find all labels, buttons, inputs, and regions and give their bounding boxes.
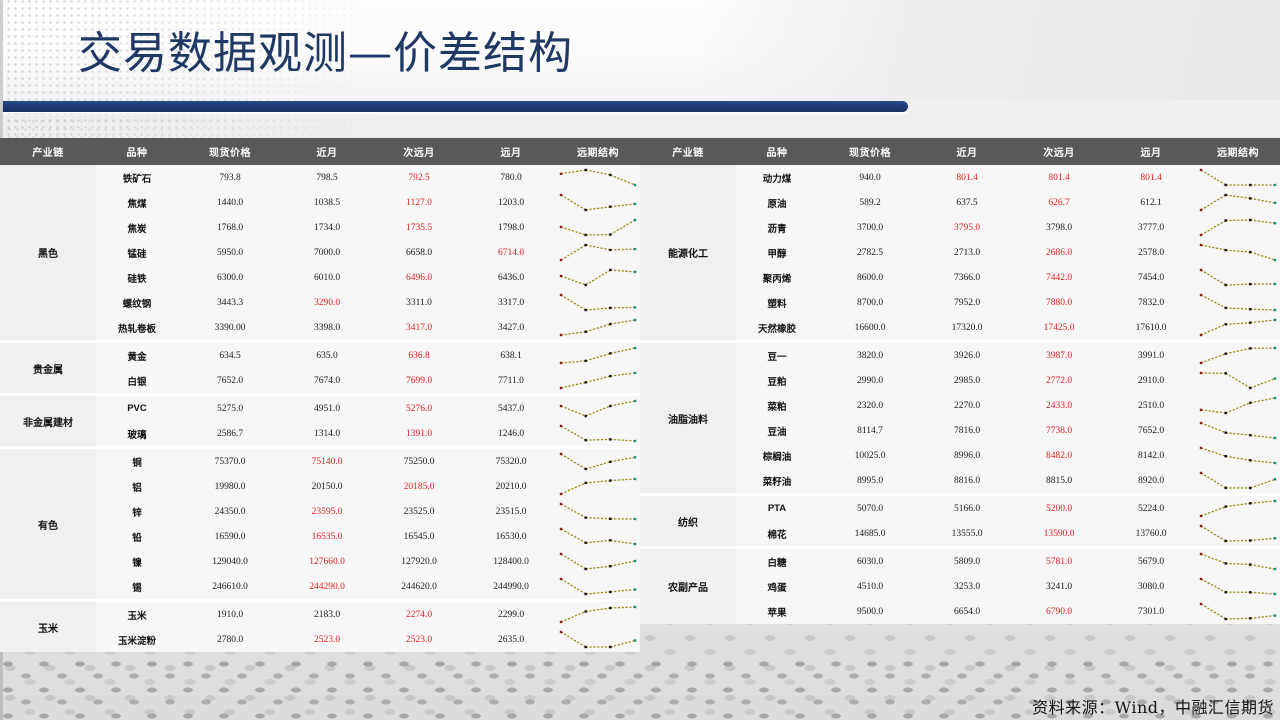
cell-spot: 16600.0 — [818, 323, 922, 333]
cell-near: 6654.0 — [922, 607, 1012, 617]
cell-spot: 3820.0 — [818, 351, 922, 361]
cell-far: 612.1 — [1106, 198, 1196, 208]
table-row[interactable]: 焦煤1440.01038.51127.01203.0 — [96, 190, 640, 215]
forward-curve-sparkline — [556, 190, 640, 215]
cell-near: 7952.0 — [922, 298, 1012, 308]
forward-curve-sparkline — [1196, 443, 1280, 468]
cell-spot: 14685.0 — [818, 529, 922, 539]
table-row[interactable]: 棕榈油10025.08996.08482.08142.0 — [736, 443, 1280, 468]
cell-spot: 589.2 — [818, 198, 922, 208]
chain-group-rows: PVC5275.04951.05276.05437.0玻璃2586.71314.… — [96, 396, 640, 446]
cell-forward-structure — [556, 499, 640, 524]
cell-variety: 铝 — [96, 480, 178, 494]
cell-far: 7711.0 — [466, 376, 556, 386]
cell-near: 3290.0 — [282, 298, 372, 308]
chain-group-rows: 玉米1910.02183.02274.02299.0玉米淀粉2780.02523… — [96, 602, 640, 652]
cell-far: 780.0 — [466, 173, 556, 183]
forward-curve-sparkline — [1196, 418, 1280, 443]
chain-group: 玉米玉米1910.02183.02274.02299.0玉米淀粉2780.025… — [0, 602, 640, 652]
cell-forward-structure — [1196, 468, 1280, 493]
chain-group-label: 贵金属 — [0, 343, 96, 393]
table-row[interactable]: 白银7652.07674.07699.07711.0 — [96, 368, 640, 393]
cell-mid-far: 7738.0 — [1012, 426, 1106, 436]
cell-variety: 豆粕 — [736, 374, 818, 388]
column-header-spot: 现货价格 — [818, 144, 922, 159]
forward-curve-sparkline — [1196, 190, 1280, 215]
cell-near: 1038.5 — [282, 198, 372, 208]
forward-curve-sparkline — [556, 549, 640, 574]
chain-group-rows: 铁矿石793.8798.5792.5780.0焦煤1440.01038.5112… — [96, 165, 640, 340]
cell-forward-structure — [556, 215, 640, 240]
cell-mid-far: 792.5 — [372, 173, 466, 183]
cell-variety: 铅 — [96, 530, 178, 544]
cell-mid-far: 8482.0 — [1012, 451, 1106, 461]
cell-spot: 8114.7 — [818, 426, 922, 436]
forward-curve-sparkline — [1196, 521, 1280, 546]
cell-forward-structure — [1196, 368, 1280, 393]
column-header-near: 近月 — [922, 144, 1012, 159]
cell-near: 8996.0 — [922, 451, 1012, 461]
cell-far: 3317.0 — [466, 298, 556, 308]
cell-variety: 玉米淀粉 — [96, 633, 178, 647]
cell-mid-far: 2433.0 — [1012, 401, 1106, 411]
forward-curve-sparkline — [1196, 599, 1280, 624]
forward-curve-sparkline — [556, 368, 640, 393]
cell-spot: 129040.0 — [178, 557, 282, 567]
cell-far: 3080.0 — [1106, 582, 1196, 592]
cell-mid-far: 5276.0 — [372, 404, 466, 414]
cell-near: 5166.0 — [922, 504, 1012, 514]
cell-spot: 3700.0 — [818, 223, 922, 233]
cell-variety: 焦炭 — [96, 221, 178, 235]
cell-mid-far: 2686.0 — [1012, 248, 1106, 258]
cell-spot: 16590.0 — [178, 532, 282, 542]
table-row[interactable]: 玉米1910.02183.02274.02299.0 — [96, 602, 640, 627]
cell-spot: 8995.0 — [818, 476, 922, 486]
chain-group: 贵金属黄金634.5635.0636.8638.1白银7652.07674.07… — [0, 343, 640, 393]
cell-forward-structure — [556, 449, 640, 474]
cell-far: 17610.0 — [1106, 323, 1196, 333]
cell-far: 7832.0 — [1106, 298, 1196, 308]
cell-mid-far: 2523.0 — [372, 635, 466, 645]
cell-near: 635.0 — [282, 351, 372, 361]
cell-mid-far: 7442.0 — [1012, 273, 1106, 283]
forward-curve-sparkline — [556, 265, 640, 290]
cell-forward-structure — [556, 368, 640, 393]
forward-curve-sparkline — [556, 574, 640, 599]
cell-near: 3795.0 — [922, 223, 1012, 233]
table-row[interactable]: 焦炭1768.01734.01735.51798.0 — [96, 215, 640, 240]
cell-far: 13760.0 — [1106, 529, 1196, 539]
cell-far: 1203.0 — [466, 198, 556, 208]
forward-curve-sparkline — [1196, 549, 1280, 574]
table-row[interactable]: 铁矿石793.8798.5792.5780.0 — [96, 165, 640, 190]
cell-variety: 硅铁 — [96, 271, 178, 285]
cell-variety: 豆一 — [736, 349, 818, 363]
forward-curve-sparkline — [1196, 215, 1280, 240]
cell-spot: 3390.00 — [178, 323, 282, 333]
forward-curve-sparkline — [556, 474, 640, 499]
cell-forward-structure — [556, 602, 640, 627]
cell-mid-far: 6790.0 — [1012, 607, 1106, 617]
price-spread-table-right: 产业链品种现货价格近月次远月远月远期结构能源化工动力煤940.0801.4801… — [640, 138, 1280, 624]
cell-variety: 棉花 — [736, 527, 818, 541]
title-accent-bar — [0, 101, 908, 112]
cell-mid-far: 1127.0 — [372, 198, 466, 208]
cell-variety: 黄金 — [96, 349, 178, 363]
cell-forward-structure — [1196, 265, 1280, 290]
cell-forward-structure — [556, 421, 640, 446]
table-row[interactable]: 天然橡胶16600.017320.017425.017610.0 — [736, 315, 1280, 340]
table-row[interactable]: 沥青3700.03795.03798.03777.0 — [736, 215, 1280, 240]
cell-forward-structure — [1196, 574, 1280, 599]
chain-group-label: 玉米 — [0, 602, 96, 652]
cell-spot: 75370.0 — [178, 457, 282, 467]
cell-far: 128400.0 — [466, 557, 556, 567]
cell-far: 7652.0 — [1106, 426, 1196, 436]
cell-forward-structure — [556, 190, 640, 215]
table-row[interactable]: 甲醇2782.52713.02686.02578.0 — [736, 240, 1280, 265]
cell-forward-structure — [1196, 240, 1280, 265]
column-header-far: 远月 — [466, 144, 556, 159]
cell-spot: 8700.0 — [818, 298, 922, 308]
cell-variety: PTA — [736, 503, 818, 514]
chain-group: 黑色铁矿石793.8798.5792.5780.0焦煤1440.01038.51… — [0, 165, 640, 340]
cell-near: 5809.0 — [922, 557, 1012, 567]
cell-variety: 塑料 — [736, 296, 818, 310]
cell-spot: 2990.0 — [818, 376, 922, 386]
chain-group-rows: PTA5070.05166.05200.05224.0棉花14685.01355… — [736, 496, 1280, 546]
cell-near: 1314.0 — [282, 429, 372, 439]
cell-spot: 634.5 — [178, 351, 282, 361]
cell-far: 5679.0 — [1106, 557, 1196, 567]
cell-far: 8920.0 — [1106, 476, 1196, 486]
cell-spot: 9500.0 — [818, 607, 922, 617]
cell-mid-far: 3311.0 — [372, 298, 466, 308]
chain-group-label: 油脂油料 — [640, 343, 736, 493]
cell-forward-structure — [1196, 549, 1280, 574]
table-row[interactable]: 塑料8700.07952.07880.07832.0 — [736, 290, 1280, 315]
cell-near: 75140.0 — [282, 457, 372, 467]
cell-far: 1798.0 — [466, 223, 556, 233]
cell-far: 20210.0 — [466, 482, 556, 492]
column-header-spot: 现货价格 — [178, 144, 282, 159]
cell-variety: 菜籽油 — [736, 474, 818, 488]
price-spread-table-left: 产业链品种现货价格近月次远月远月远期结构黑色铁矿石793.8798.5792.5… — [0, 138, 640, 652]
forward-curve-sparkline — [556, 627, 640, 652]
cell-mid-far: 2772.0 — [1012, 376, 1106, 386]
cell-spot: 3443.3 — [178, 298, 282, 308]
chain-group-label: 农副产品 — [640, 549, 736, 624]
cell-spot: 7652.0 — [178, 376, 282, 386]
cell-variety: 棕榈油 — [736, 449, 818, 463]
forward-curve-sparkline — [1196, 240, 1280, 265]
table-body: 黑色铁矿石793.8798.5792.5780.0焦煤1440.01038.51… — [0, 165, 640, 652]
forward-curve-sparkline — [1196, 315, 1280, 340]
cell-forward-structure — [556, 165, 640, 190]
table-row[interactable]: 菜粕2320.02270.02433.02510.0 — [736, 393, 1280, 418]
forward-curve-sparkline — [556, 343, 640, 368]
cell-spot: 1910.0 — [178, 610, 282, 620]
cell-spot: 5950.0 — [178, 248, 282, 258]
forward-curve-sparkline — [556, 165, 640, 190]
cell-near: 16535.0 — [282, 532, 372, 542]
cell-far: 244990.0 — [466, 582, 556, 592]
cell-far: 6436.0 — [466, 273, 556, 283]
cell-far: 2510.0 — [1106, 401, 1196, 411]
cell-spot: 2780.0 — [178, 635, 282, 645]
table-row[interactable]: 豆一3820.03926.03987.03991.0 — [736, 343, 1280, 368]
cell-variety: 白糖 — [736, 555, 818, 569]
chain-group-rows: 白糖6030.05809.05781.05679.0鸡蛋4510.03253.0… — [736, 549, 1280, 624]
cell-far: 8142.0 — [1106, 451, 1196, 461]
cell-variety: 苹果 — [736, 605, 818, 619]
cell-mid-far: 626.7 — [1012, 198, 1106, 208]
cell-mid-far: 6658.0 — [372, 248, 466, 258]
chain-group-label: 非金属建材 — [0, 396, 96, 446]
cell-spot: 1768.0 — [178, 223, 282, 233]
table-row[interactable]: 豆粕2990.02985.02772.02910.0 — [736, 368, 1280, 393]
cell-far: 638.1 — [466, 351, 556, 361]
cell-mid-far: 6496.0 — [372, 273, 466, 283]
table-row[interactable]: 玻璃2586.71314.01391.01246.0 — [96, 421, 640, 446]
cell-mid-far: 3241.0 — [1012, 582, 1106, 592]
forward-curve-sparkline — [556, 524, 640, 549]
forward-curve-sparkline — [556, 396, 640, 421]
column-header-variety: 品种 — [96, 144, 178, 159]
column-header-chain: 产业链 — [640, 144, 736, 159]
forward-curve-sparkline — [1196, 343, 1280, 368]
cell-spot: 19980.0 — [178, 482, 282, 492]
forward-curve-sparkline — [556, 421, 640, 446]
cell-forward-structure — [1196, 393, 1280, 418]
chain-group-rows: 黄金634.5635.0636.8638.1白银7652.07674.07699… — [96, 343, 640, 393]
chain-group: 能源化工动力煤940.0801.4801.4801.4原油589.2637.56… — [640, 165, 1280, 340]
forward-curve-sparkline — [1196, 165, 1280, 190]
forward-curve-sparkline — [1196, 265, 1280, 290]
cell-near: 127660.0 — [282, 557, 372, 567]
table-row[interactable]: 豆油8114.77816.07738.07652.0 — [736, 418, 1280, 443]
table-row[interactable]: 黄金634.5635.0636.8638.1 — [96, 343, 640, 368]
cell-far: 75320.0 — [466, 457, 556, 467]
column-header-structure: 远期结构 — [1196, 144, 1280, 159]
cell-forward-structure — [556, 524, 640, 549]
column-header-far: 远月 — [1106, 144, 1196, 159]
column-header-structure: 远期结构 — [556, 144, 640, 159]
cell-spot: 5070.0 — [818, 504, 922, 514]
table-row[interactable]: 锌24350.023595.023525.023515.0 — [96, 499, 640, 524]
table-row[interactable]: 动力煤940.0801.4801.4801.4 — [736, 165, 1280, 190]
chain-group-rows: 豆一3820.03926.03987.03991.0豆粕2990.02985.0… — [736, 343, 1280, 493]
cell-spot: 2782.5 — [818, 248, 922, 258]
table-row[interactable]: 聚丙烯8600.07366.07442.07454.0 — [736, 265, 1280, 290]
cell-far: 801.4 — [1106, 173, 1196, 183]
cell-far: 5224.0 — [1106, 504, 1196, 514]
cell-mid-far: 13590.0 — [1012, 529, 1106, 539]
cell-far: 2299.0 — [466, 610, 556, 620]
cell-variety: 白银 — [96, 374, 178, 388]
cell-variety: 玉米 — [96, 608, 178, 622]
chain-group: 纺织PTA5070.05166.05200.05224.0棉花14685.013… — [640, 496, 1280, 546]
table-row[interactable]: 锡246610.0244290.0244620.0244990.0 — [96, 574, 640, 599]
cell-spot: 940.0 — [818, 173, 922, 183]
cell-variety: PVC — [96, 403, 178, 414]
cell-mid-far: 244620.0 — [372, 582, 466, 592]
cell-mid-far: 127920.0 — [372, 557, 466, 567]
table-row[interactable]: 玉米淀粉2780.02523.02523.02635.0 — [96, 627, 640, 652]
cell-near: 2985.0 — [922, 376, 1012, 386]
forward-curve-sparkline — [556, 602, 640, 627]
table-row[interactable]: 热轧卷板3390.003398.03417.03427.0 — [96, 315, 640, 340]
cell-variety: 甲醇 — [736, 246, 818, 260]
column-header-chain: 产业链 — [0, 144, 96, 159]
cell-near: 23595.0 — [282, 507, 372, 517]
cell-variety: 动力煤 — [736, 171, 818, 185]
cell-forward-structure — [1196, 496, 1280, 521]
chain-group-label: 能源化工 — [640, 165, 736, 340]
cell-far: 3991.0 — [1106, 351, 1196, 361]
cell-near: 2183.0 — [282, 610, 372, 620]
cell-near: 2523.0 — [282, 635, 372, 645]
chain-group: 农副产品白糖6030.05809.05781.05679.0鸡蛋4510.032… — [640, 549, 1280, 624]
cell-near: 13555.0 — [922, 529, 1012, 539]
table-row[interactable]: 苹果9500.06654.06790.07301.0 — [736, 599, 1280, 624]
cell-near: 3253.0 — [922, 582, 1012, 592]
cell-near: 3926.0 — [922, 351, 1012, 361]
cell-variety: 螺纹钢 — [96, 296, 178, 310]
chain-group-rows: 铜75370.075140.075250.075320.0铝19980.0201… — [96, 449, 640, 599]
cell-spot: 5275.0 — [178, 404, 282, 414]
table-row[interactable]: PVC5275.04951.05276.05437.0 — [96, 396, 640, 421]
cell-spot: 8600.0 — [818, 273, 922, 283]
table-row[interactable]: 铝19980.020150.020185.020210.0 — [96, 474, 640, 499]
cell-mid-far: 7699.0 — [372, 376, 466, 386]
cell-far: 3777.0 — [1106, 223, 1196, 233]
cell-variety: 原油 — [736, 196, 818, 210]
cell-mid-far: 16545.0 — [372, 532, 466, 542]
cell-variety: 锡 — [96, 580, 178, 594]
cell-mid-far: 1735.5 — [372, 223, 466, 233]
forward-curve-sparkline — [1196, 368, 1280, 393]
table-row[interactable]: 硅铁6300.06010.06496.06436.0 — [96, 265, 640, 290]
cell-spot: 6030.0 — [818, 557, 922, 567]
cell-spot: 4510.0 — [818, 582, 922, 592]
table-row[interactable]: 白糖6030.05809.05781.05679.0 — [736, 549, 1280, 574]
cell-spot: 246610.0 — [178, 582, 282, 592]
cell-far: 2635.0 — [466, 635, 556, 645]
forward-curve-sparkline — [1196, 393, 1280, 418]
cell-near: 6010.0 — [282, 273, 372, 283]
table-row[interactable]: 棉花14685.013555.013590.013760.0 — [736, 521, 1280, 546]
table-body: 能源化工动力煤940.0801.4801.4801.4原油589.2637.56… — [640, 165, 1280, 624]
table-row[interactable]: 铜75370.075140.075250.075320.0 — [96, 449, 640, 474]
cell-forward-structure — [1196, 315, 1280, 340]
cell-near: 3398.0 — [282, 323, 372, 333]
cell-variety: 热轧卷板 — [96, 321, 178, 335]
cell-forward-structure — [556, 627, 640, 652]
forward-curve-sparkline — [556, 215, 640, 240]
cell-mid-far: 3798.0 — [1012, 223, 1106, 233]
cell-forward-structure — [556, 396, 640, 421]
cell-far: 7301.0 — [1106, 607, 1196, 617]
cell-forward-structure — [556, 290, 640, 315]
forward-curve-sparkline — [556, 290, 640, 315]
cell-forward-structure — [556, 240, 640, 265]
table-row[interactable]: 螺纹钢3443.33290.03311.03317.0 — [96, 290, 640, 315]
table-header-row: 产业链品种现货价格近月次远月远月远期结构 — [0, 138, 640, 165]
cell-near: 637.5 — [922, 198, 1012, 208]
cell-variety: 菜粕 — [736, 399, 818, 413]
forward-curve-sparkline — [1196, 468, 1280, 493]
cell-mid-far: 5200.0 — [1012, 504, 1106, 514]
cell-variety: 锌 — [96, 505, 178, 519]
forward-curve-sparkline — [556, 315, 640, 340]
cell-spot: 10025.0 — [818, 451, 922, 461]
cell-forward-structure — [1196, 521, 1280, 546]
cell-near: 801.4 — [922, 173, 1012, 183]
cell-forward-structure — [1196, 165, 1280, 190]
cell-variety: 豆油 — [736, 424, 818, 438]
chain-group: 有色铜75370.075140.075250.075320.0铝19980.02… — [0, 449, 640, 599]
cell-near: 7000.0 — [282, 248, 372, 258]
cell-far: 1246.0 — [466, 429, 556, 439]
cell-near: 8816.0 — [922, 476, 1012, 486]
cell-mid-far: 636.8 — [372, 351, 466, 361]
cell-variety: 焦煤 — [96, 196, 178, 210]
forward-curve-sparkline — [1196, 290, 1280, 315]
table-row[interactable]: 鸡蛋4510.03253.03241.03080.0 — [736, 574, 1280, 599]
forward-curve-sparkline — [556, 499, 640, 524]
cell-mid-far: 20185.0 — [372, 482, 466, 492]
cell-forward-structure — [1196, 418, 1280, 443]
cell-mid-far: 2274.0 — [372, 610, 466, 620]
cell-far: 3427.0 — [466, 323, 556, 333]
forward-curve-sparkline — [556, 240, 640, 265]
cell-variety: 锰硅 — [96, 246, 178, 260]
cell-near: 7674.0 — [282, 376, 372, 386]
cell-near: 7816.0 — [922, 426, 1012, 436]
chain-group-rows: 动力煤940.0801.4801.4801.4原油589.2637.5626.7… — [736, 165, 1280, 340]
cell-near: 17320.0 — [922, 323, 1012, 333]
cell-variety: 沥青 — [736, 221, 818, 235]
table-row[interactable]: 菜籽油8995.08816.08815.08920.0 — [736, 468, 1280, 493]
cell-variety: 铜 — [96, 455, 178, 469]
cell-forward-structure — [556, 549, 640, 574]
cell-far: 2910.0 — [1106, 376, 1196, 386]
cell-forward-structure — [556, 574, 640, 599]
chain-group-label: 纺织 — [640, 496, 736, 546]
table-row[interactable]: PTA5070.05166.05200.05224.0 — [736, 496, 1280, 521]
table-row[interactable]: 原油589.2637.5626.7612.1 — [736, 190, 1280, 215]
cell-mid-far: 17425.0 — [1012, 323, 1106, 333]
cell-variety: 玻璃 — [96, 427, 178, 441]
cell-mid-far: 3417.0 — [372, 323, 466, 333]
cell-far: 23515.0 — [466, 507, 556, 517]
cell-mid-far: 5781.0 — [1012, 557, 1106, 567]
column-header-mid-far: 次远月 — [1012, 144, 1106, 159]
table-row[interactable]: 锰硅5950.07000.06658.06714.0 — [96, 240, 640, 265]
table-row[interactable]: 镍129040.0127660.0127920.0128400.0 — [96, 549, 640, 574]
cell-spot: 2586.7 — [178, 429, 282, 439]
cell-variety: 聚丙烯 — [736, 271, 818, 285]
chain-group: 非金属建材PVC5275.04951.05276.05437.0玻璃2586.7… — [0, 396, 640, 446]
cell-near: 1734.0 — [282, 223, 372, 233]
table-row[interactable]: 铅16590.016535.016545.016530.0 — [96, 524, 640, 549]
cell-forward-structure — [1196, 443, 1280, 468]
cell-far: 2578.0 — [1106, 248, 1196, 258]
cell-mid-far: 801.4 — [1012, 173, 1106, 183]
cell-mid-far: 1391.0 — [372, 429, 466, 439]
